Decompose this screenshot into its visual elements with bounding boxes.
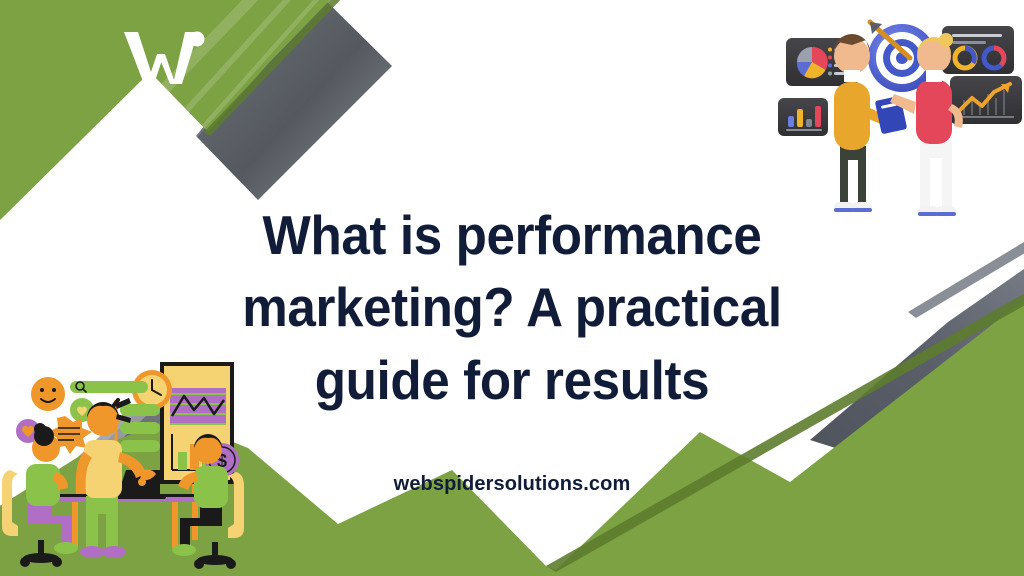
smiley-badge-icon [31, 377, 65, 411]
page-title-line-2: marketing? A practical [185, 271, 840, 344]
checklist-bars [116, 400, 160, 452]
bottom-right-gray-band [810, 262, 1024, 462]
illustration-bottom-left: $ [0, 348, 262, 576]
page-title: What is performance marketing? A practic… [185, 199, 840, 417]
chair-left [20, 540, 62, 567]
top-left-gray-band [196, 0, 392, 200]
brand-logo[interactable] [122, 26, 206, 88]
search-bar-icon [70, 381, 148, 393]
blog-header-banner: What is performance marketing? A practic… [0, 0, 1024, 576]
w-letter-icon [124, 32, 198, 84]
illustration-top-right [774, 0, 1024, 240]
desk [52, 494, 198, 548]
donut-charts-panel [942, 26, 1014, 74]
page-title-line-3: guide for results [185, 344, 840, 417]
logo-dot-icon [190, 32, 205, 47]
page-title-line-1: What is performance [185, 199, 840, 272]
bar-chart-panel [778, 98, 828, 136]
chair-right [194, 542, 236, 569]
